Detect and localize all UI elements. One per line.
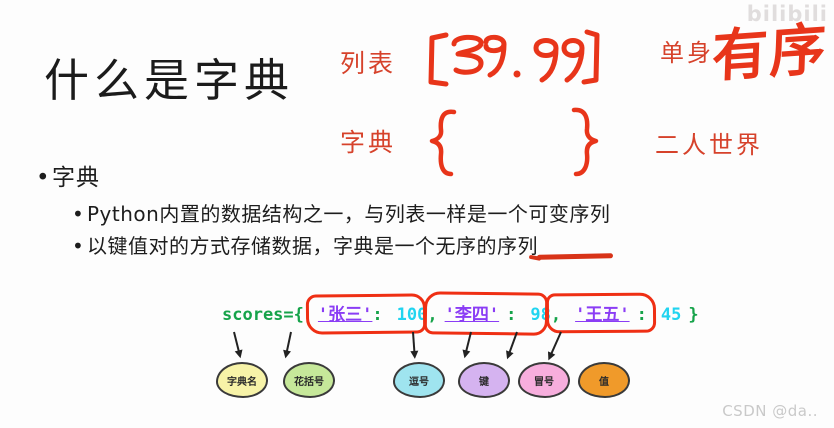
csdn-watermark: CSDN @da.. bbox=[722, 402, 818, 420]
code-key: '张三' bbox=[318, 305, 372, 325]
cloud-text: 值 bbox=[599, 373, 609, 388]
bullet-glyph: • bbox=[72, 234, 87, 258]
annotation-single-label: 单身 bbox=[660, 33, 714, 68]
code-colon: : bbox=[372, 305, 382, 325]
code-colon: : bbox=[637, 305, 647, 325]
code-variable-name: scores bbox=[222, 305, 283, 325]
code-value: 100 bbox=[397, 305, 428, 325]
connector-arrow bbox=[507, 332, 518, 357]
annotation-dict-label: 字典 bbox=[340, 123, 396, 159]
code-colon: : bbox=[506, 305, 516, 325]
bullet-glyph: • bbox=[72, 202, 87, 226]
cloud-text: 逗号 bbox=[409, 373, 429, 388]
connector-arrow bbox=[285, 332, 292, 356]
code-key: '王五' bbox=[575, 305, 629, 325]
code-snippet: scores={'张三':100,'李四':98,'王五':45} bbox=[222, 300, 699, 325]
code-close-brace: } bbox=[688, 305, 698, 325]
slide-canvas: bilibili 什么是字典 列表 字典 单身 二人世界 有序 •字典 •Py bbox=[0, 0, 834, 428]
cloud-text: 冒号 bbox=[534, 373, 554, 388]
code-comma: , bbox=[551, 305, 561, 325]
annotation-list-label: 列表 bbox=[340, 44, 396, 80]
cloud-text: 字典名 bbox=[227, 373, 257, 388]
cloud-label-colon: 冒号 bbox=[518, 362, 570, 398]
cloud-text: 花括号 bbox=[294, 373, 324, 388]
bullet-level1: •字典 bbox=[36, 158, 610, 192]
bilibili-watermark: bilibili bbox=[747, 2, 828, 26]
handwritten-list-brackets bbox=[424, 22, 604, 102]
connector-arrow bbox=[412, 332, 416, 356]
code-open-brace: { bbox=[294, 305, 304, 325]
bullet-level2-text: 以键值对的方式存储数据，字典是一个无序的序列 bbox=[87, 234, 538, 258]
annotation-couple-label: 二人世界 bbox=[655, 125, 763, 160]
cloud-label-curly-brace: 花括号 bbox=[283, 362, 335, 398]
bullet-list: •字典 •Python内置的数据结构之一，与列表一样是一个可变序列 •以键值对的… bbox=[36, 158, 610, 262]
connector-arrow bbox=[464, 332, 472, 356]
cloud-text: 键 bbox=[479, 373, 489, 388]
page-title: 什么是字典 bbox=[44, 44, 294, 109]
code-value: 45 bbox=[661, 305, 681, 325]
code-assign-operator: = bbox=[283, 305, 293, 325]
bullet-level1-text: 字典 bbox=[52, 165, 100, 191]
code-value: 98 bbox=[530, 305, 550, 325]
bullet-level2-item: •Python内置的数据结构之一，与列表一样是一个可变序列 bbox=[72, 198, 610, 227]
connector-arrow bbox=[233, 332, 241, 356]
cloud-label-dict-name: 字典名 bbox=[216, 362, 268, 398]
cloud-label-comma: 逗号 bbox=[393, 362, 445, 398]
bullet-glyph: • bbox=[36, 165, 52, 191]
cloud-label-key: 键 bbox=[458, 362, 510, 398]
bullet-level2-text: Python内置的数据结构之一，与列表一样是一个可变序列 bbox=[87, 202, 610, 226]
connector-arrow bbox=[549, 332, 562, 358]
cloud-label-value: 值 bbox=[578, 362, 630, 398]
code-comma: , bbox=[427, 305, 437, 325]
code-key: '李四' bbox=[445, 305, 499, 325]
